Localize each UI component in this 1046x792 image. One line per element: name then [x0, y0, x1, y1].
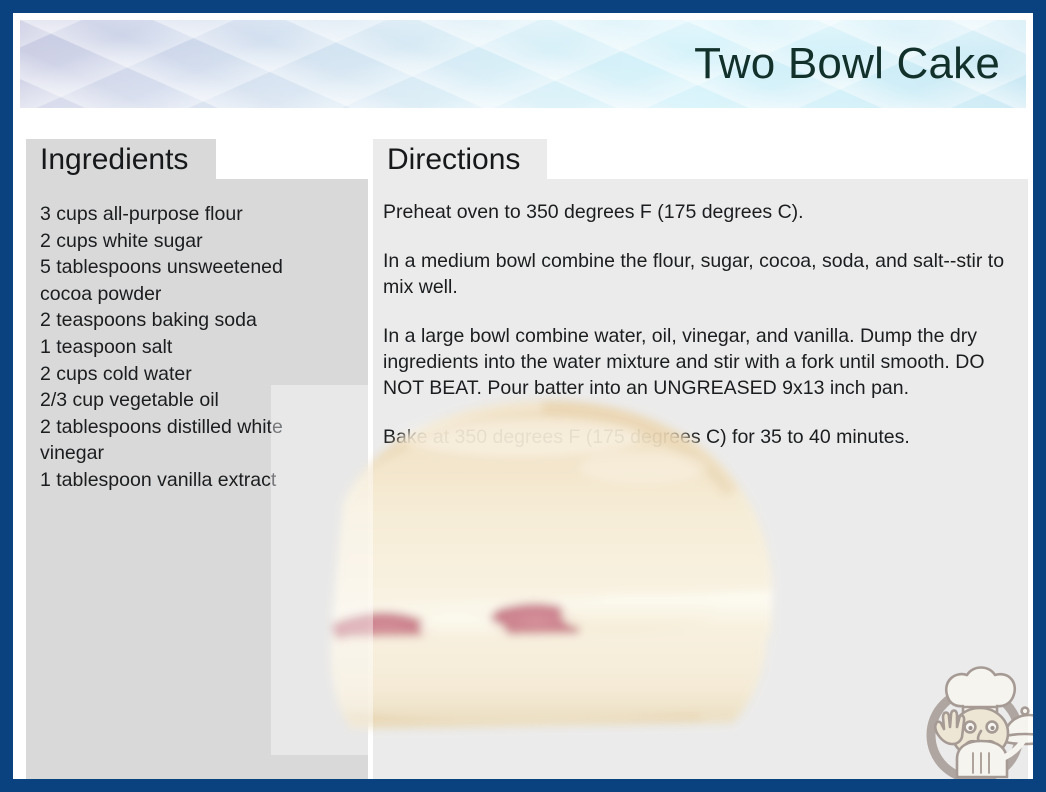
direction-step: Bake at 350 degrees F (175 degrees C) fo… [383, 424, 1018, 450]
directions-body: Preheat oven to 350 degrees F (175 degre… [373, 179, 1028, 791]
page-title: Two Bowl Cake [694, 41, 1000, 87]
direction-step: In a medium bowl combine the flour, suga… [383, 248, 1018, 300]
ingredients-body: 3 cups all-purpose flour 2 cups white su… [26, 179, 368, 791]
list-item: 2 tablespoons distilled white [40, 414, 352, 441]
ingredients-list: 3 cups all-purpose flour 2 cups white su… [40, 201, 352, 494]
directions-tab: Directions [373, 139, 547, 181]
list-item: 2 cups white sugar [40, 228, 352, 255]
list-item: 5 tablespoons unsweetened [40, 254, 352, 281]
title-banner: Two Bowl Cake [20, 20, 1026, 108]
list-item: cocoa powder [40, 281, 352, 308]
direction-step: In a large bowl combine water, oil, vine… [383, 323, 1018, 401]
ingredients-heading: Ingredients [40, 145, 188, 175]
recipe-card: Two Bowl Cake Ingredients 3 cups all-pur… [0, 0, 1046, 792]
list-item: 2/3 cup vegetable oil [40, 387, 352, 414]
card-inner-surface: Two Bowl Cake Ingredients 3 cups all-pur… [13, 13, 1033, 779]
directions-steps: Preheat oven to 350 degrees F (175 degre… [383, 199, 1018, 450]
list-item: 2 cups cold water [40, 361, 352, 388]
list-item: 1 tablespoon vanilla extract [40, 467, 352, 494]
list-item: 1 teaspoon salt [40, 334, 352, 361]
direction-step: Preheat oven to 350 degrees F (175 degre… [383, 199, 1018, 225]
directions-panel: Directions Preheat oven to 350 degrees F… [373, 139, 1028, 791]
list-item: vinegar [40, 440, 352, 467]
directions-heading: Directions [387, 145, 520, 175]
ingredients-panel: Ingredients 3 cups all-purpose flour 2 c… [26, 139, 368, 791]
list-item: 3 cups all-purpose flour [40, 201, 352, 228]
list-item: 2 teaspoons baking soda [40, 307, 352, 334]
ingredients-tab: Ingredients [26, 139, 216, 181]
